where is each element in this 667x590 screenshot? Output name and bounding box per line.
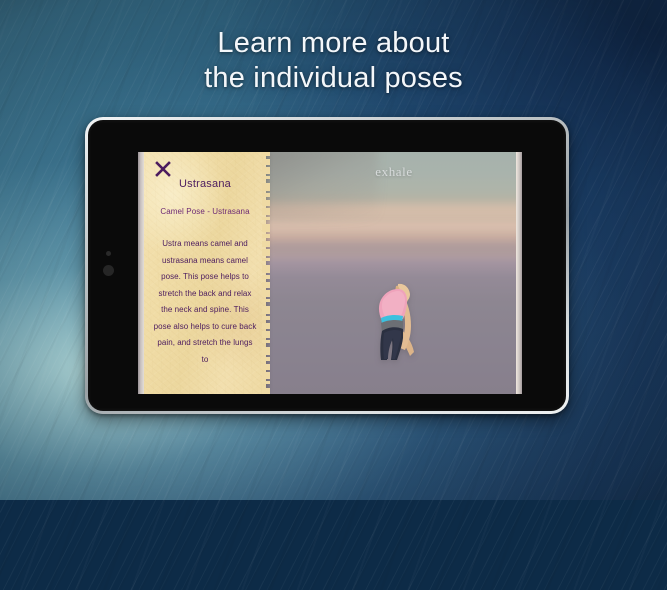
sensor-dot-icon (106, 251, 111, 256)
tablet-bezel: Ustrasana Camel Pose - Ustrasana Ustra m… (88, 120, 566, 411)
tablet-device-frame: Ustrasana Camel Pose - Ustrasana Ustra m… (85, 117, 569, 414)
pose-practice-scene: exhale (266, 152, 522, 394)
screen-right-edge (516, 152, 522, 394)
pose-title: Ustrasana (151, 178, 259, 191)
close-icon[interactable] (154, 160, 172, 178)
screen-left-edge (138, 152, 144, 394)
tablet-screen: Ustrasana Camel Pose - Ustrasana Ustra m… (138, 152, 522, 394)
pose-description: Ustra means camel and ustrasana means ca… (151, 236, 259, 368)
breath-cue-label: exhale (266, 164, 522, 180)
promo-heading-line-1: Learn more about (217, 27, 449, 59)
yoga-figure-icon (366, 270, 430, 366)
promo-heading: Learn more about the individual poses (0, 26, 667, 96)
promo-heading-line-2: the individual poses (0, 61, 667, 96)
pose-subtitle: Camel Pose - Ustrasana (151, 207, 259, 217)
pose-info-panel: Ustrasana Camel Pose - Ustrasana Ustra m… (144, 152, 266, 394)
horizon-line (266, 238, 522, 252)
pose-info-content: Ustrasana Camel Pose - Ustrasana Ustra m… (144, 152, 266, 368)
scene-corner-shade (266, 152, 378, 220)
front-camera-icon (103, 265, 114, 276)
